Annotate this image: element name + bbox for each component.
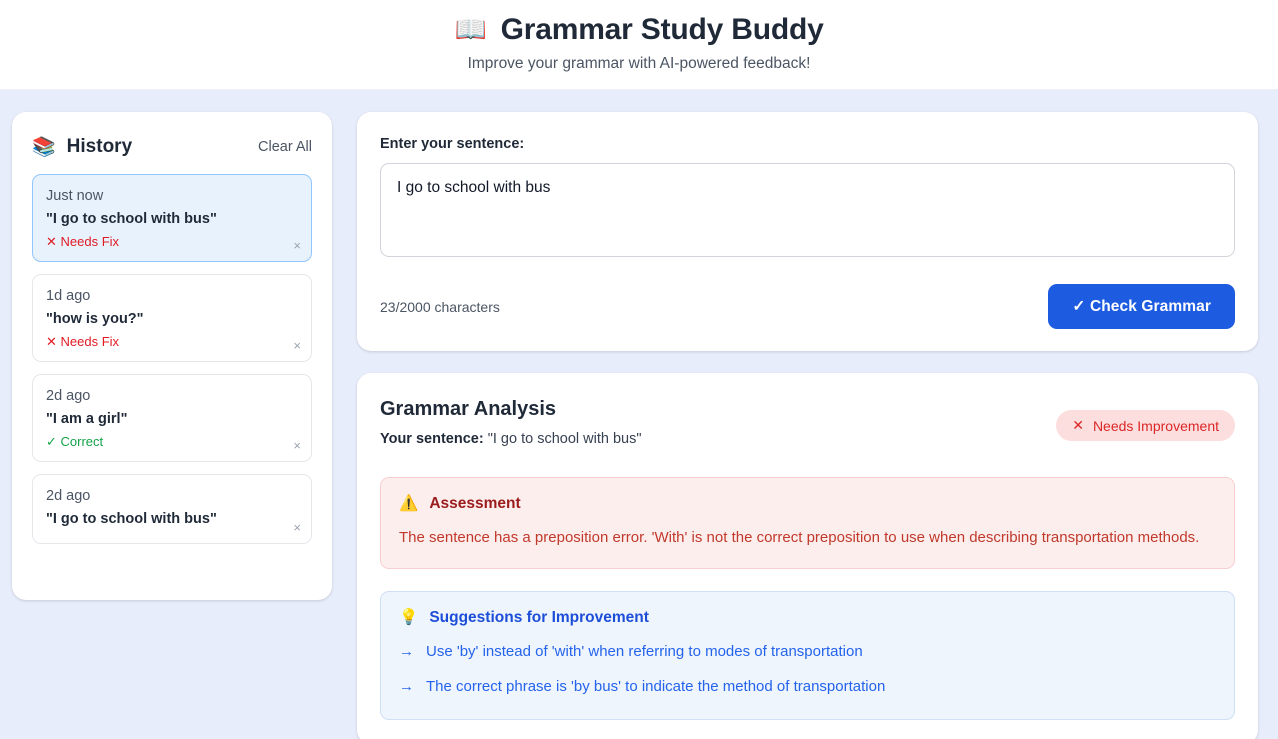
suggestions-header: 💡 Suggestions for Improvement [399,608,1216,627]
check-grammar-label: Check Grammar [1090,298,1211,315]
your-sentence-line: Your sentence: "I go to school with bus" [380,429,641,449]
app-subtitle: Improve your grammar with AI-powered fee… [0,54,1278,74]
history-item-status: ✕ Needs Fix [46,233,298,251]
assessment-box: ⚠️ Assessment The sentence has a preposi… [380,477,1235,569]
history-item-sentence: "how is you?" [46,308,298,330]
input-card-footer: 23/2000 characters ✓ Check Grammar [380,284,1235,329]
analysis-title: Grammar Analysis [380,396,641,422]
history-list[interactable]: Just now "I go to school with bus" ✕ Nee… [32,174,312,544]
suggestion-text: Use 'by' instead of 'with' when referrin… [426,640,863,664]
suggestion-item: → Use 'by' instead of 'with' when referr… [399,640,1216,664]
history-panel-header: 📚 History Clear All [32,136,312,158]
history-title-group: 📚 History [32,136,132,158]
history-item-delete-icon[interactable]: × [293,339,301,353]
history-panel: 📚 History Clear All Just now "I go to sc… [12,112,332,600]
status-badge: ✕ Needs Improvement [1056,410,1235,441]
assessment-text: The sentence has a preposition error. 'W… [399,526,1216,550]
books-icon: 📚 [32,138,56,157]
history-item-delete-icon[interactable]: × [293,521,301,535]
clear-all-button[interactable]: Clear All [258,139,312,155]
suggestions-heading: Suggestions for Improvement [429,609,649,627]
history-item-status-label: Correct [61,434,104,449]
page-body: 📚 History Clear All Just now "I go to sc… [0,90,1278,739]
history-item-status: ✕ Needs Fix [46,333,298,351]
status-cross-icon: ✕ [46,234,57,249]
app-header: 📖Grammar Study Buddy Improve your gramma… [0,0,1278,90]
history-item-sentence: "I go to school with bus" [46,208,298,230]
app-title-text: Grammar Study Buddy [501,13,824,46]
history-item-delete-icon[interactable]: × [293,239,301,253]
your-sentence-label: Your sentence: [380,431,484,447]
check-grammar-button[interactable]: ✓ Check Grammar [1048,284,1235,329]
open-book-icon: 📖 [454,14,486,44]
page-title: 📖Grammar Study Buddy [0,11,1278,48]
status-cross-icon: ✕ [46,334,57,349]
warning-icon: ⚠️ [399,494,418,513]
sentence-input-card: Enter your sentence: 23/2000 characters … [357,112,1258,351]
analysis-header-left: Grammar Analysis Your sentence: "I go to… [380,396,641,449]
history-item-time: Just now [46,186,298,206]
history-item-delete-icon[interactable]: × [293,439,301,453]
history-item-time: 2d ago [46,386,298,406]
status-check-icon: ✓ [46,434,57,449]
suggestion-text: The correct phrase is 'by bus' to indica… [426,675,885,699]
history-item[interactable]: 2d ago "I go to school with bus" × [32,474,312,544]
history-item[interactable]: 2d ago "I am a girl" ✓ Correct × [32,374,312,462]
arrow-right-icon: → [399,675,414,699]
history-item[interactable]: 1d ago "how is you?" ✕ Needs Fix × [32,274,312,362]
check-icon: ✓ [1072,298,1085,315]
lightbulb-icon: 💡 [399,608,418,627]
assessment-heading: Assessment [429,495,520,513]
history-item-time: 2d ago [46,486,298,506]
sentence-input-label: Enter your sentence: [380,136,1235,152]
status-badge-label: Needs Improvement [1093,418,1219,434]
suggestion-item: → The correct phrase is 'by bus' to indi… [399,675,1216,699]
badge-cross-icon: ✕ [1072,417,1084,434]
history-item-sentence: "I go to school with bus" [46,508,298,530]
history-item-time: 1d ago [46,286,298,306]
suggestions-box: 💡 Suggestions for Improvement → Use 'by'… [380,591,1235,720]
history-item-status-label: Needs Fix [61,234,120,249]
your-sentence-value: "I go to school with bus" [488,431,642,447]
history-item[interactable]: Just now "I go to school with bus" ✕ Nee… [32,174,312,262]
character-counter: 23/2000 characters [380,299,500,315]
history-item-status-label: Needs Fix [61,334,120,349]
analysis-header: Grammar Analysis Your sentence: "I go to… [380,396,1235,449]
history-item-status: ✓ Correct [46,433,298,451]
history-title: History [67,136,132,158]
grammar-analysis-card: Grammar Analysis Your sentence: "I go to… [357,373,1258,739]
main-column: Enter your sentence: 23/2000 characters … [357,112,1258,739]
history-item-sentence: "I am a girl" [46,408,298,430]
arrow-right-icon: → [399,640,414,664]
sentence-input[interactable] [380,163,1235,257]
assessment-header: ⚠️ Assessment [399,494,1216,513]
